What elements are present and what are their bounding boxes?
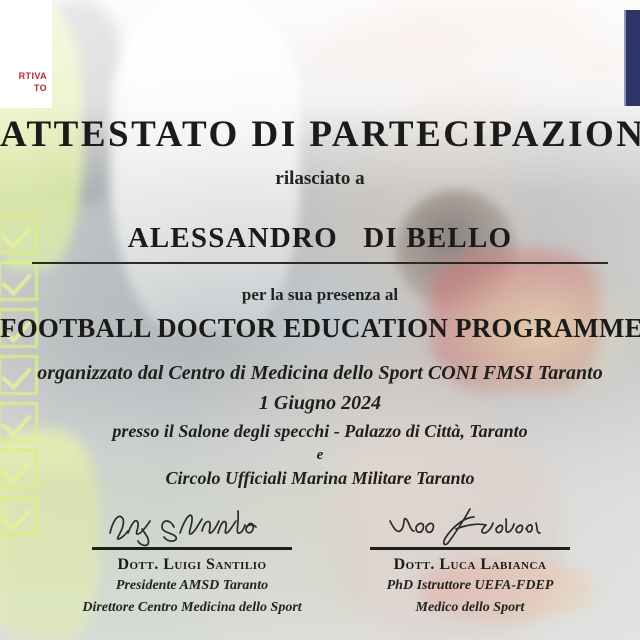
recipient-underline bbox=[32, 262, 608, 264]
venue-secondary: Circolo Ufficiali Marina Militare Tarant… bbox=[0, 468, 640, 489]
recipient-name: ALESSANDRO DI BELLO bbox=[0, 222, 640, 255]
signatory-role-left-2: Direttore Centro Medicina dello Sport bbox=[62, 598, 322, 618]
organizer-line: organizzato dal Centro di Medicina dello… bbox=[37, 362, 603, 385]
signature-block-left: Dott. Luigi Santilio Presidente AMSD Tar… bbox=[62, 505, 322, 618]
programme-title: FOOTBALL DOCTOR EDUCATION PROGRAMME bbox=[0, 313, 640, 344]
handwritten-signature-labianca bbox=[340, 505, 600, 547]
certificate-title: ATTESTATO DI PARTECIPAZIONE bbox=[0, 113, 640, 156]
venue-primary: presso il Salone degli specchi - Palazzo… bbox=[0, 421, 640, 442]
signature-rule-right bbox=[370, 547, 570, 550]
handwritten-signature-santilio bbox=[62, 505, 322, 547]
signatory-role-right-1: PhD Istruttore UEFA-FDEP bbox=[340, 576, 600, 596]
signature-rule-left bbox=[92, 547, 292, 550]
signature-block-right: Dott. Luca Labianca PhD Istruttore UEFA-… bbox=[340, 505, 600, 618]
signatory-name-right: Dott. Luca Labianca bbox=[340, 556, 600, 574]
issued-to-label: rilasciato a bbox=[0, 168, 640, 190]
signatory-role-left-1: Presidente AMSD Taranto bbox=[62, 576, 322, 596]
venue-conjunction: e bbox=[0, 447, 640, 464]
signatory-role-right-2: Medico dello Sport bbox=[340, 598, 600, 618]
signatory-name-left: Dott. Luigi Santilio bbox=[62, 556, 322, 574]
certificate-content: ATTESTATO DI PARTECIPAZIONE rilasciato a… bbox=[0, 0, 640, 640]
certificate: RTIVA TO ATTESTATO DI PARTECIPAZIONE ril… bbox=[0, 0, 640, 640]
presence-line: per la sua presenza al bbox=[0, 285, 640, 305]
event-date: 1 Giugno 2024 bbox=[0, 392, 640, 415]
